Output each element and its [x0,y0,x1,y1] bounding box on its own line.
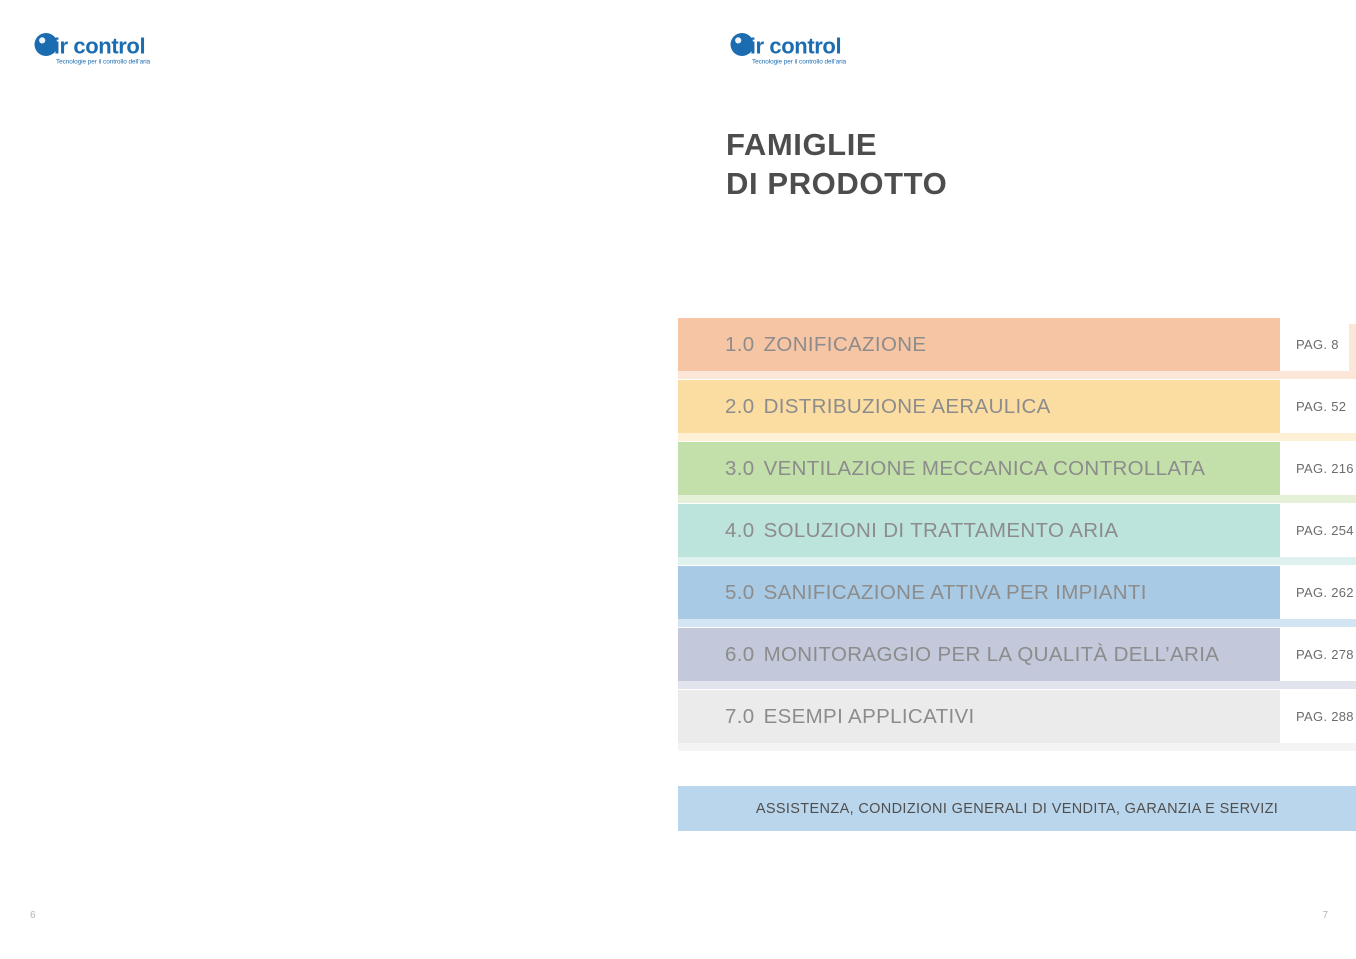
row-label: 1.0ZONIFICAZIONE [725,333,926,357]
product-family-row[interactable]: 3.0VENTILAZIONE MECCANICA CONTROLLATAPAG… [678,442,1356,504]
row-page-reference: PAG. 52 [1280,380,1356,433]
row-title: ESEMPI APPLICATIVI [764,705,975,728]
product-family-row[interactable]: 1.0ZONIFICAZIONEPAG. 8 [678,318,1356,380]
row-label: 7.0ESEMPI APPLICATIVI [725,705,975,729]
product-family-row[interactable]: 7.0ESEMPI APPLICATIVIPAG. 288 [678,690,1356,752]
row-number: 1.0 [725,333,755,356]
row-number: 3.0 [725,457,755,480]
row-label: 6.0MONITORAGGIO PER LA QUALITÀ DELL’ARIA [725,643,1219,667]
row-number: 5.0 [725,581,755,604]
page-spread: air control Tecnologie per il controllo … [0,0,1356,959]
svg-text:air control: air control [738,34,841,59]
row-page-reference: PAG. 216 [1280,442,1356,495]
row-color-bar[interactable]: 6.0MONITORAGGIO PER LA QUALITÀ DELL’ARIA [678,628,1280,681]
product-family-row[interactable]: 6.0MONITORAGGIO PER LA QUALITÀ DELL’ARIA… [678,628,1356,690]
product-family-row[interactable]: 4.0SOLUZIONI DI TRATTAMENTO ARIAPAG. 254 [678,504,1356,566]
row-label: 2.0DISTRIBUZIONE AERAULICA [725,395,1051,419]
svg-text:Tecnologie per il controllo de: Tecnologie per il controllo dell’aria [752,59,847,66]
services-banner-label: ASSISTENZA, CONDIZIONI GENERALI DI VENDI… [756,801,1278,817]
left-page: air control Tecnologie per il controllo … [0,0,678,959]
page-title: FAMIGLIE DI PRODOTTO [726,125,947,203]
row-label: 3.0VENTILAZIONE MECCANICA CONTROLLATA [725,457,1205,481]
product-family-row[interactable]: 2.0DISTRIBUZIONE AERAULICAPAG. 52 [678,380,1356,442]
row-number: 6.0 [725,643,755,666]
folio-right: 7 [1322,910,1328,921]
air-control-logo-icon: air control Tecnologie per il controllo … [30,28,162,68]
row-color-bar[interactable]: 4.0SOLUZIONI DI TRATTAMENTO ARIA [678,504,1280,557]
row-page-reference: PAG. 262 [1280,566,1356,619]
row-page-reference: PAG. 254 [1280,504,1356,557]
row-color-bar[interactable]: 3.0VENTILAZIONE MECCANICA CONTROLLATA [678,442,1280,495]
row-page-reference: PAG. 288 [1280,690,1356,743]
row-label: 5.0SANIFICAZIONE ATTIVA PER IMPIANTI [725,581,1147,605]
product-family-row[interactable]: 5.0SANIFICAZIONE ATTIVA PER IMPIANTIPAG.… [678,566,1356,628]
row-title: DISTRIBUZIONE AERAULICA [764,395,1051,418]
row-color-bar[interactable]: 2.0DISTRIBUZIONE AERAULICA [678,380,1280,433]
row-title: VENTILAZIONE MECCANICA CONTROLLATA [764,457,1206,480]
svg-text:air control: air control [42,34,145,59]
row-title: MONITORAGGIO PER LA QUALITÀ DELL’ARIA [764,643,1220,666]
svg-text:Tecnologie per il controllo de: Tecnologie per il controllo dell’aria [56,59,151,66]
product-family-list: 1.0ZONIFICAZIONEPAG. 82.0DISTRIBUZIONE A… [678,318,1356,752]
row-title: SOLUZIONI DI TRATTAMENTO ARIA [764,519,1119,542]
row-color-bar[interactable]: 7.0ESEMPI APPLICATIVI [678,690,1280,743]
folio-left: 6 [30,910,36,921]
row-page-reference: PAG. 278 [1280,628,1356,681]
row-label: 4.0SOLUZIONI DI TRATTAMENTO ARIA [725,519,1118,543]
row-number: 4.0 [725,519,755,542]
row-number: 7.0 [725,705,755,728]
row-page-reference: PAG. 8 [1280,318,1349,371]
services-banner[interactable]: ASSISTENZA, CONDIZIONI GENERALI DI VENDI… [678,786,1356,831]
row-color-bar[interactable]: 5.0SANIFICAZIONE ATTIVA PER IMPIANTI [678,566,1280,619]
page-title-line-1: FAMIGLIE [726,125,947,164]
row-title: SANIFICAZIONE ATTIVA PER IMPIANTI [764,581,1147,604]
row-title: ZONIFICAZIONE [764,333,927,356]
air-control-logo-icon: air control Tecnologie per il controllo … [726,28,858,68]
row-number: 2.0 [725,395,755,418]
page-title-line-2: DI PRODOTTO [726,164,947,203]
right-page: air control Tecnologie per il controllo … [678,0,1356,959]
row-color-bar[interactable]: 1.0ZONIFICAZIONE [678,318,1280,371]
